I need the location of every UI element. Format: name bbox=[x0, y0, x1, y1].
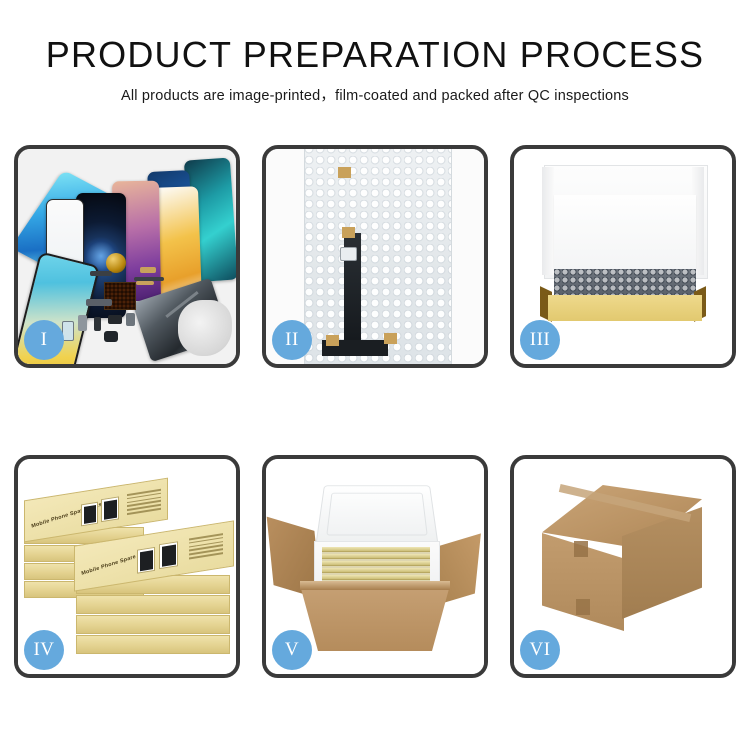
process-step-panel-5[interactable]: V bbox=[262, 455, 488, 678]
step-badge-5: V bbox=[272, 630, 312, 670]
kraft-box-front-icon bbox=[548, 295, 702, 321]
retail-box-icon bbox=[76, 635, 230, 654]
bubble-wrap-bag-icon bbox=[304, 149, 452, 364]
connector-icon bbox=[340, 247, 357, 261]
foam-sheet-icon bbox=[554, 195, 696, 269]
box-thumbnail-icon bbox=[101, 496, 119, 522]
step-badge-4: IV bbox=[24, 630, 64, 670]
process-step-panel-4[interactable]: Mobile Phone Spare Parts Mobile Phone Sp… bbox=[14, 455, 240, 678]
process-step-panel-3[interactable]: III bbox=[510, 145, 736, 368]
spare-part-icon bbox=[86, 299, 112, 306]
packed-retail-boxes-icon bbox=[322, 547, 430, 583]
page-header: PRODUCT PREPARATION PROCESS All products… bbox=[0, 34, 750, 105]
box-thumbnail-icon bbox=[81, 502, 98, 527]
carton-body-icon bbox=[300, 585, 450, 651]
bubble-wrap-icon bbox=[554, 269, 696, 297]
tape-tab-icon bbox=[326, 335, 339, 346]
flex-cable-icon bbox=[134, 277, 164, 281]
spare-part-icon bbox=[78, 315, 87, 331]
foam-box-lid-icon bbox=[315, 485, 438, 545]
tape-tab-icon bbox=[342, 227, 355, 238]
process-step-panel-2[interactable]: II bbox=[262, 145, 488, 368]
spare-part-icon bbox=[90, 271, 112, 276]
box-checklist-icon bbox=[127, 489, 161, 517]
spare-part-icon bbox=[126, 313, 135, 326]
spare-part-icon bbox=[108, 315, 122, 324]
box-thumbnail-icon bbox=[137, 547, 155, 574]
box-checklist-icon bbox=[189, 533, 223, 561]
tape-tab-icon bbox=[338, 167, 351, 178]
page-subtitle: All products are image-printed，film-coat… bbox=[0, 84, 750, 105]
spare-part-icon bbox=[136, 281, 154, 285]
box-lid-left-icon bbox=[542, 167, 554, 275]
speaker-module-icon bbox=[106, 253, 126, 273]
tape-tab-icon bbox=[576, 599, 590, 615]
process-step-panel-6[interactable]: VI bbox=[510, 455, 736, 678]
step-badge-6: VI bbox=[520, 630, 560, 670]
carton-rim-icon bbox=[300, 581, 450, 590]
tape-tab-icon bbox=[574, 541, 588, 557]
spare-part-icon bbox=[104, 331, 118, 342]
retail-box-icon bbox=[76, 615, 230, 634]
process-steps-grid: I II bbox=[14, 145, 737, 678]
step-badge-2: II bbox=[272, 320, 312, 360]
step-badge-3: III bbox=[520, 320, 560, 360]
product-preparation-process-page: PRODUCT PREPARATION PROCESS All products… bbox=[0, 0, 750, 750]
step-badge-1: I bbox=[24, 320, 64, 360]
spare-part-icon bbox=[140, 267, 156, 273]
page-title: PRODUCT PREPARATION PROCESS bbox=[0, 34, 750, 76]
tape-tab-icon bbox=[384, 333, 397, 344]
box-thumbnail-icon bbox=[159, 541, 178, 569]
technician-hand-icon bbox=[178, 300, 232, 356]
spare-part-icon bbox=[94, 317, 101, 331]
retail-box-icon bbox=[76, 595, 230, 614]
process-step-panel-1[interactable]: I bbox=[14, 145, 240, 368]
